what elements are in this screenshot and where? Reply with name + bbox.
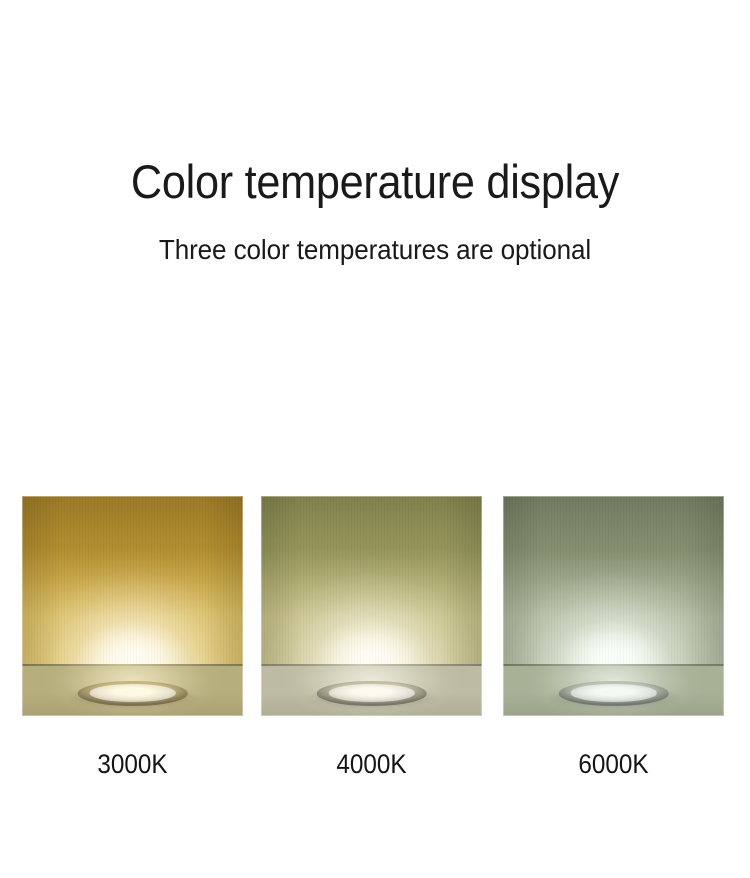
floor-3000k [22, 664, 243, 716]
sample-photo-4000k [261, 496, 482, 716]
wall-6000k [503, 496, 724, 664]
fixture-lens [89, 684, 175, 701]
sample-4000k [261, 496, 482, 716]
sample-photo-3000k [22, 496, 243, 716]
page-subtitle: Three color temperatures are optional [26, 231, 724, 269]
floor-6000k [503, 664, 724, 716]
label-4000k: 4000K [272, 744, 471, 784]
downlight-fixture-icon [558, 681, 669, 706]
page-title: Color temperature display [30, 153, 720, 211]
sample-photo-6000k [503, 496, 724, 716]
wall-vignette [22, 496, 243, 664]
downlight-fixture-icon [316, 681, 427, 706]
wall-floor-seam [503, 664, 724, 666]
wall-floor-seam [261, 664, 482, 666]
color-temperature-display-page: Color temperature display Three color te… [0, 0, 750, 878]
label-6000k: 6000K [514, 744, 713, 784]
sample-3000k [22, 496, 243, 716]
fixture-lens [570, 684, 656, 701]
color-temperature-samples [22, 496, 722, 716]
wall-vignette [261, 496, 482, 664]
wall-4000k [261, 496, 482, 664]
wall-3000k [22, 496, 243, 664]
label-3000k: 3000K [33, 744, 232, 784]
downlight-fixture-icon [77, 681, 188, 706]
fixture-lens [328, 684, 414, 701]
color-temperature-labels: 3000K 4000K 6000K [22, 744, 722, 788]
sample-6000k [503, 496, 724, 716]
wall-floor-seam [22, 664, 243, 666]
floor-4000k [261, 664, 482, 716]
wall-vignette [503, 496, 724, 664]
